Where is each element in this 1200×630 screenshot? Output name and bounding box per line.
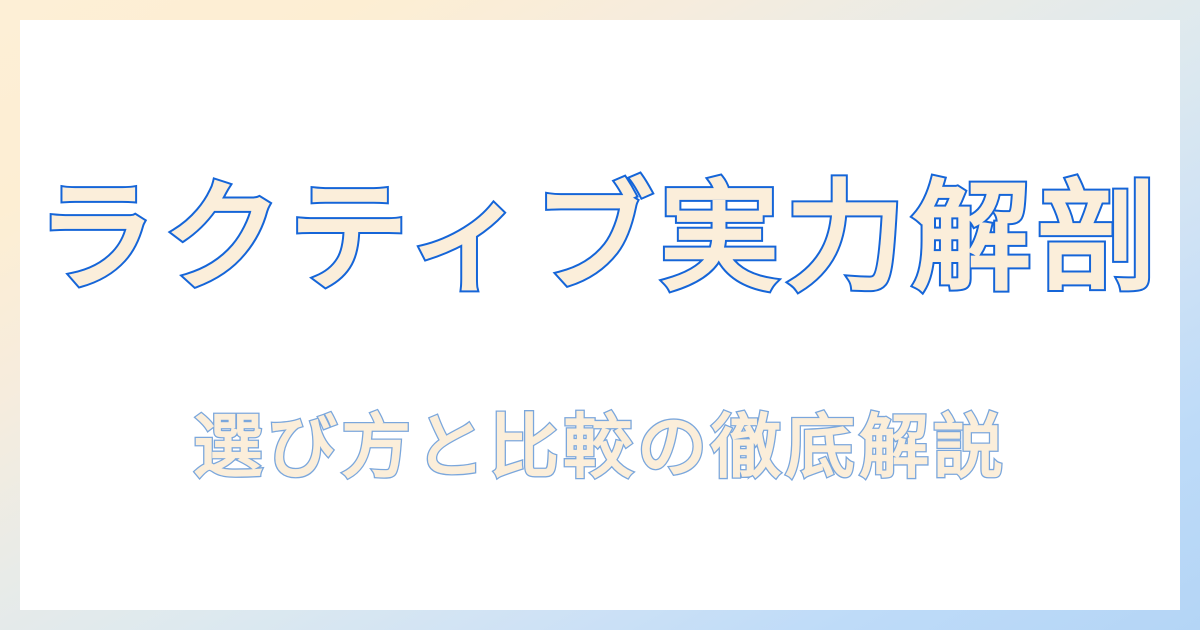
poster-card: ラクティブ実力解剖 選び方と比較の徹底解説: [20, 20, 1180, 610]
page-subtitle: 選び方と比較の徹底解説: [193, 405, 1007, 489]
subtitle-container: 選び方と比較の徹底解説: [20, 405, 1180, 489]
page-title: ラクティブ実力解剖: [37, 170, 1164, 308]
title-container: ラクティブ実力解剖: [20, 170, 1180, 308]
poster-frame: ラクティブ実力解剖 選び方と比較の徹底解説: [0, 0, 1200, 630]
